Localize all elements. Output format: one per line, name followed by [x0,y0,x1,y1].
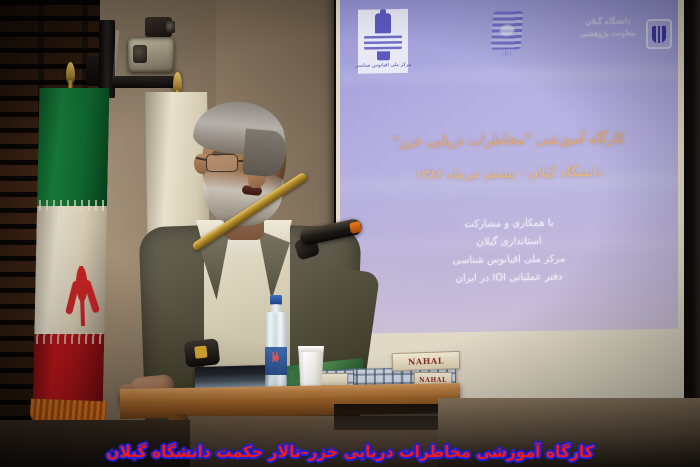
slide-title: کارگاه آموزشی "مخاطرات دریایی خزر" [340,123,678,158]
university-logo-text: دانشگاه گیلان معاونت پژوهشی [576,15,640,40]
iran-emblem-icon [68,265,96,326]
ioi-logo-caption: IOI [490,51,524,58]
bottle-label [265,347,287,375]
water-bottle [265,295,287,391]
slide-credits: با همکاری و مشارکت استانداری گیلان مرکز … [340,213,678,290]
ioi-logo-icon: IOI [490,11,524,66]
nahal-brand-label-top: NAHAL [392,351,461,371]
waves-icon [364,34,402,51]
flag-kufic-band-top [37,200,107,211]
university-department: معاونت پژوهشی [576,27,640,40]
photo-caption: کارگاه آموزشی مخاطرات دریایی خزر–تالار ح… [0,443,700,461]
university-crest-icon [646,19,672,49]
slide-logo-row: مرکز ملی اقیانوس شناسی IOI دانشگاه گیلان… [340,5,678,76]
flag-kufic-band-bottom [34,333,104,344]
projector-lens-icon [133,45,147,63]
university-name: دانشگاه گیلان [576,15,640,28]
lens-left [206,154,238,172]
projected-slide: مرکز ملی اقیانوس شناسی IOI دانشگاه گیلان… [340,0,678,334]
flag-band-green [37,88,110,208]
projector-mount-arm [112,76,174,88]
ioi-glyph-icon [491,11,524,50]
camera-lens-icon [166,21,175,33]
laptop-device [195,365,271,389]
logo-stem [377,51,390,60]
iran-flag [33,88,110,418]
oceanography-center-logo-icon: مرکز ملی اقیانوس شناسی [358,9,408,74]
oceanography-logo-caption: مرکز ملی اقیانوس شناسی [355,62,411,69]
slide-subtitle: دانشگاه گیلان - بیستم تیرماه ۱۳۸۶ [340,159,678,190]
buoy-icon [375,13,391,33]
microphone-base [184,338,221,367]
photograph-scene: مرکز ملی اقیانوس شناسی IOI دانشگاه گیلان… [0,0,700,467]
